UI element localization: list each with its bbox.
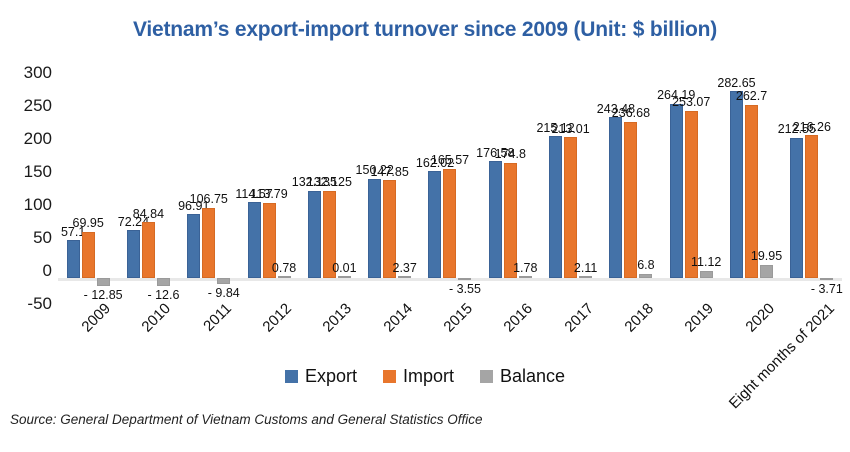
bar-slot: - 3.71 [820, 80, 833, 278]
bar-slot: 174.8 [504, 80, 517, 278]
bar-balance[interactable] [97, 278, 110, 286]
bar-balance[interactable] [700, 271, 713, 278]
bar-slot: 213.01 [564, 80, 577, 278]
bar-slot: 57.1 [67, 80, 80, 278]
bar-import[interactable] [202, 208, 215, 278]
bar-slot: 253.07 [685, 80, 698, 278]
bar-export[interactable] [127, 230, 140, 278]
chart-title: Vietnam’s export-import turnover since 2… [0, 18, 850, 42]
x-axis-label: 2011 [200, 300, 235, 335]
bar-group: 96.91106.75- 9.84 [179, 80, 239, 278]
bar-slot: 215.12 [549, 80, 562, 278]
bar-slot: 165.57 [443, 80, 456, 278]
bar-export[interactable] [670, 104, 683, 278]
bar-group: 114.57113.790.78 [239, 80, 299, 278]
bar-group: 57.169.95- 12.85 [58, 80, 118, 278]
x-axis-label: 2012 [259, 300, 295, 336]
bar-export[interactable] [428, 171, 441, 278]
bar-group: 282.65262.719.95 [721, 80, 781, 278]
x-axis-label: 2016 [501, 300, 537, 336]
bar-group: 150.22147.852.37 [360, 80, 420, 278]
bar-export[interactable] [609, 117, 622, 278]
bar-import[interactable] [443, 169, 456, 278]
bar-slot: 72.24 [127, 80, 140, 278]
bar-value-label: 6.8 [637, 259, 654, 272]
bar-slot: - 3.55 [458, 80, 471, 278]
x-axis-categories: 2009201020112012201320142015201620172018… [58, 300, 842, 410]
bar-balance[interactable] [519, 276, 532, 278]
bar-slot: 147.85 [383, 80, 396, 278]
x-axis-label: 2009 [79, 300, 115, 336]
bar-export[interactable] [67, 240, 80, 278]
bar-export[interactable] [368, 179, 381, 278]
legend-item-export[interactable]: Export [285, 366, 357, 387]
bar-balance[interactable] [458, 278, 471, 280]
bar-slot: 84.84 [142, 80, 155, 278]
legend-swatch-icon [480, 370, 493, 383]
chart-figure: Vietnam’s export-import turnover since 2… [0, 0, 850, 452]
bar-import[interactable] [685, 111, 698, 278]
bar-balance[interactable] [338, 276, 351, 278]
x-axis-label: 2017 [561, 300, 597, 336]
bar-group: 212.55216.26- 3.71 [782, 80, 842, 278]
x-axis-label: 2010 [139, 300, 175, 336]
y-axis-tick: 100 [4, 196, 52, 213]
bar-value-label: 11.12 [691, 256, 721, 269]
bar-balance[interactable] [157, 278, 170, 286]
bar-value-label: 2.11 [574, 262, 597, 275]
bar-slot: 2.37 [398, 80, 411, 278]
bar-value-label: 0.01 [332, 262, 356, 275]
bar-export[interactable] [730, 91, 743, 278]
bar-group: 215.12213.012.11 [540, 80, 600, 278]
bar-value-label: 19.95 [751, 250, 782, 263]
y-axis-tick: 50 [4, 229, 52, 246]
bar-balance[interactable] [278, 276, 291, 278]
x-axis-label: Eight months of 2021 [726, 300, 838, 412]
bar-import[interactable] [82, 232, 95, 278]
bar-group: 176.58174.81.78 [480, 80, 540, 278]
bar-slot: 150.22 [368, 80, 381, 278]
bar-slot: 236.68 [624, 80, 637, 278]
bar-value-label: - 3.71 [811, 283, 843, 296]
bar-balance[interactable] [760, 265, 773, 278]
bar-slot: 2.11 [579, 80, 592, 278]
bar-export[interactable] [549, 136, 562, 278]
bar-balance[interactable] [820, 278, 833, 280]
bar-export[interactable] [489, 161, 502, 278]
bar-slot: 6.8 [639, 80, 652, 278]
y-axis-tick: 300 [4, 64, 52, 81]
bar-export[interactable] [308, 191, 321, 278]
bar-slot: - 9.84 [217, 80, 230, 278]
bar-export[interactable] [248, 202, 261, 278]
bar-slot: 162.02 [428, 80, 441, 278]
x-axis-label: 2015 [440, 300, 476, 336]
legend-swatch-icon [383, 370, 396, 383]
legend-swatch-icon [285, 370, 298, 383]
bar-group: 72.2484.84- 12.6 [118, 80, 178, 278]
x-axis-label: 2013 [320, 300, 356, 336]
bar-slot: - 12.85 [97, 80, 110, 278]
bar-group: 162.02165.57- 3.55 [420, 80, 480, 278]
legend-item-balance[interactable]: Balance [480, 366, 565, 387]
chart-legend: ExportImportBalance [0, 366, 850, 387]
y-axis-tick: 0 [4, 262, 52, 279]
bar-value-label: 1.78 [513, 262, 537, 275]
bar-slot: - 12.6 [157, 80, 170, 278]
bar-slot: 216.26 [805, 80, 818, 278]
bar-balance[interactable] [398, 276, 411, 278]
bar-slot: 106.75 [202, 80, 215, 278]
legend-label: Balance [500, 366, 565, 387]
y-axis-tick: 200 [4, 130, 52, 147]
bar-import[interactable] [624, 122, 637, 278]
x-axis-label: 2014 [380, 300, 416, 336]
bar-slot: 0.01 [338, 80, 351, 278]
x-axis-label: 2020 [742, 300, 778, 336]
bar-slot: 282.65 [730, 80, 743, 278]
y-axis-tick: -50 [4, 295, 52, 312]
bar-import[interactable] [142, 222, 155, 278]
bar-import[interactable] [805, 135, 818, 278]
source-note: Source: General Department of Vietnam Cu… [10, 412, 482, 427]
bar-group: 264.19253.0711.12 [661, 80, 721, 278]
bar-slot: 114.57 [248, 80, 261, 278]
bar-slot: 212.55 [790, 80, 803, 278]
bar-group: 243.48236.686.8 [601, 80, 661, 278]
y-axis-tick: 150 [4, 163, 52, 180]
x-axis-label: 2019 [682, 300, 718, 336]
legend-label: Import [403, 366, 454, 387]
bar-slot: 113.79 [263, 80, 276, 278]
bar-slot: 262.7 [745, 80, 758, 278]
bar-balance[interactable] [217, 278, 230, 284]
bar-slot: 69.95 [82, 80, 95, 278]
bar-value-label: - 3.55 [449, 283, 481, 296]
bar-slot: 19.95 [760, 80, 773, 278]
bar-value-label: 2.37 [393, 262, 417, 275]
bar-export[interactable] [187, 214, 200, 278]
bar-group: 132.135132.1250.01 [299, 80, 359, 278]
bar-slot: 1.78 [519, 80, 532, 278]
bar-value-label: - 9.84 [208, 287, 240, 300]
x-axis-label: 2018 [621, 300, 657, 336]
bar-balance[interactable] [639, 274, 652, 278]
bar-slot: 264.19 [670, 80, 683, 278]
legend-item-import[interactable]: Import [383, 366, 454, 387]
bar-import[interactable] [564, 137, 577, 278]
bar-slot: 132.125 [323, 80, 336, 278]
legend-label: Export [305, 366, 357, 387]
bar-slot: 96.91 [187, 80, 200, 278]
bar-export[interactable] [790, 138, 803, 278]
bar-value-label: 0.78 [272, 262, 296, 275]
bar-slot: 11.12 [700, 80, 713, 278]
y-axis-tick: 250 [4, 97, 52, 114]
bar-balance[interactable] [579, 276, 592, 278]
bar-groups: 57.169.95- 12.8572.2484.84- 12.696.91106… [58, 80, 842, 295]
bar-slot: 0.78 [278, 80, 291, 278]
bar-slot: 176.58 [489, 80, 502, 278]
